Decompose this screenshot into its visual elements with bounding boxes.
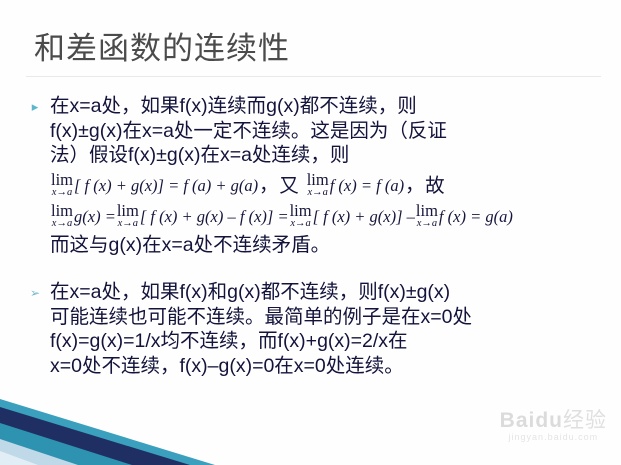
bullet-line: x=0处不连续，f(x)–g(x)=0在x=0处连续。 <box>50 354 608 379</box>
slide-title-area: 和差函数的连续性 <box>0 14 621 76</box>
bullet-line: f(x)±g(x)在x=a处一定不连续。这是因为（反证 <box>50 119 608 144</box>
bullet-group-1-body: 在x=a处，如果f(x)连续而g(x)都不连续，则 f(x)±g(x)在x=a处… <box>50 94 608 257</box>
slide-decoration <box>0 393 621 465</box>
limit-op-label: lim <box>416 203 438 220</box>
limit-operator: lim x→a <box>416 203 438 230</box>
bullet-group-1: ▸ 在x=a处，如果f(x)连续而g(x)都不连续，则 f(x)±g(x)在x=… <box>28 94 608 280</box>
title-divider <box>26 76 601 77</box>
limit-operator: lim x→a <box>117 203 139 230</box>
bullet-line: f(x)=g(x)=1/x均不连续，而f(x)+g(x)=2/x在 <box>50 329 608 354</box>
math-expression: [ f (x) + g(x) – f (x)] = <box>140 205 289 230</box>
math-formula-row: lim x→a [ f (x) + g(x)] = f (a) + g(a) ，… <box>50 172 608 199</box>
slide-canvas: 和差函数的连续性 ▸ 在x=a处，如果f(x)连续而g(x)都不连续，则 f(x… <box>0 0 621 465</box>
math-expression: f (x) = g(a) <box>439 205 513 230</box>
limit-operator: lim x→a <box>51 203 73 230</box>
bullet-line: 法）假设f(x)±g(x)在x=a处连续，则 <box>50 143 608 168</box>
bullet-line: 在x=a处，如果f(x)连续而g(x)都不连续，则 <box>50 94 608 119</box>
limit-op-label: lim <box>51 203 73 220</box>
limit-operator: lim x→a <box>307 172 329 199</box>
limit-operator: lim x→a <box>290 203 312 230</box>
slide-body: ▸ 在x=a处，如果f(x)连续而g(x)都不连续，则 f(x)±g(x)在x=… <box>28 94 608 399</box>
limit-subscript: x→a <box>290 219 310 230</box>
math-conjunction: 又 <box>279 174 299 199</box>
limit-operator: lim x→a <box>51 172 73 199</box>
limit-subscript: x→a <box>52 188 72 199</box>
triangle-right-icon: ▸ <box>28 97 42 117</box>
bullet-line: 可能连续也可能不连续。最简单的例子是在x=0处 <box>50 305 608 330</box>
math-formula-row: lim x→a g(x) = lim x→a [ f (x) + g(x) – … <box>50 203 608 230</box>
arrow-right-icon: ➢ <box>28 283 42 303</box>
limit-subscript: x→a <box>118 219 138 230</box>
limit-subscript: x→a <box>52 219 72 230</box>
math-expression: [ f (x) + g(x)] = f (a) + g(a) <box>74 174 258 199</box>
bullet-group-2-body: 在x=a处，如果f(x)和g(x)都不连续，则f(x)±g(x) 可能连续也可能… <box>50 280 608 378</box>
bullet-line: 在x=a处，如果f(x)和g(x)都不连续，则f(x)±g(x) <box>50 280 608 305</box>
bullet-group-2: ➢ 在x=a处，如果f(x)和g(x)都不连续，则f(x)±g(x) 可能连续也… <box>28 280 608 378</box>
limit-op-label: lim <box>117 203 139 220</box>
math-expression: f (x) = f (a) <box>330 174 404 199</box>
limit-subscript: x→a <box>417 219 437 230</box>
math-tail-text: 故 <box>425 174 445 199</box>
limit-op-label: lim <box>290 203 312 220</box>
limit-op-label: lim <box>307 172 329 189</box>
math-expression: g(x) = <box>74 205 116 230</box>
math-comma: ， <box>404 174 425 199</box>
limit-subscript: x→a <box>308 188 328 199</box>
bullet-line: 而这与g(x)在x=a处不连续矛盾。 <box>50 233 608 258</box>
math-comma: ， <box>258 174 279 199</box>
page-title: 和差函数的连续性 <box>34 30 290 68</box>
math-expression: [ f (x) + g(x)] – <box>313 205 415 230</box>
limit-op-label: lim <box>51 172 73 189</box>
